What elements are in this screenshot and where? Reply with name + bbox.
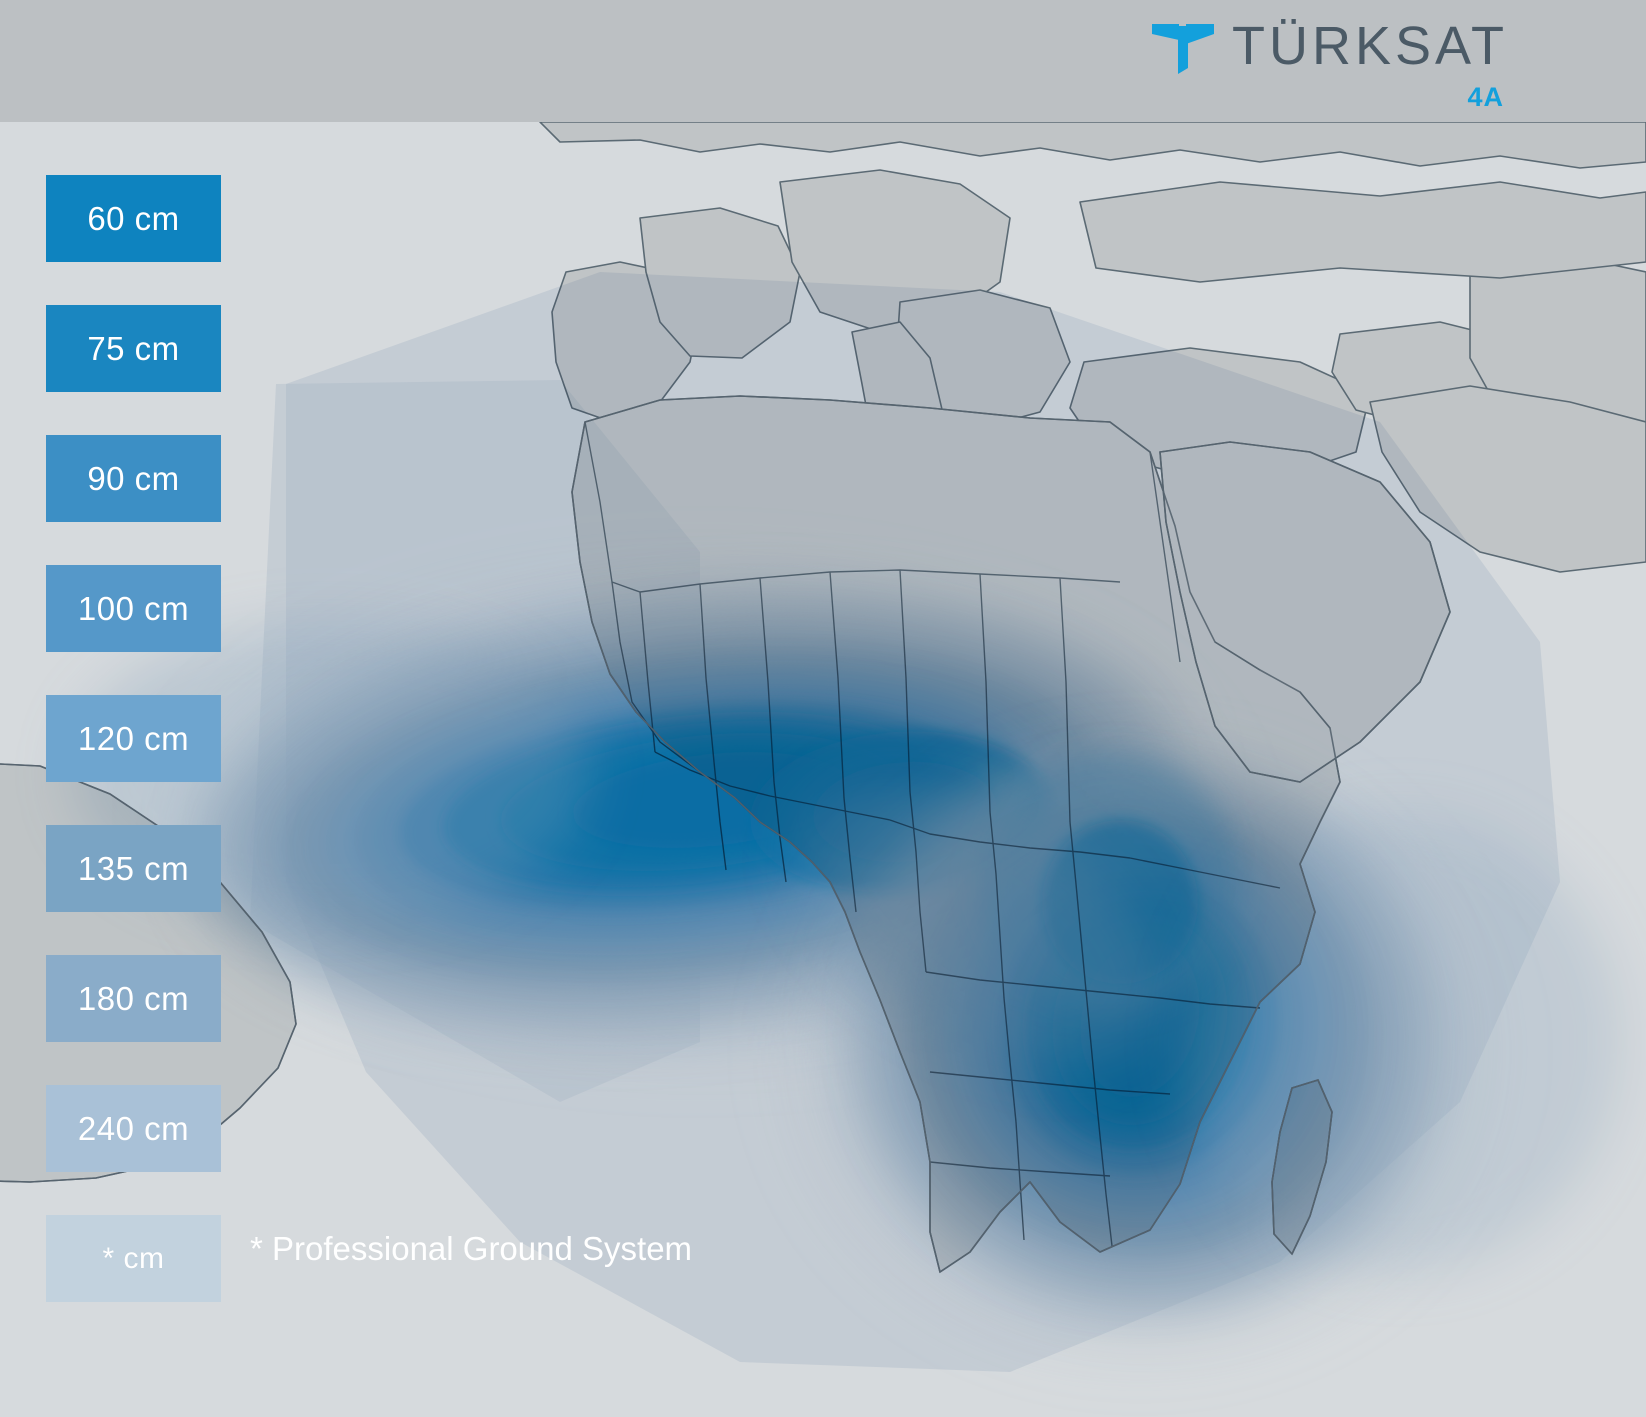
brand-logo-block: TÜRKSAT 4A xyxy=(1152,18,1508,113)
legend-label-240cm: 240 cm xyxy=(78,1110,189,1148)
logo-row: TÜRKSAT xyxy=(1152,18,1508,74)
legend-label-100cm: 100 cm xyxy=(78,590,189,628)
legend-label-120cm: 120 cm xyxy=(78,720,189,758)
beam-indian-ocean-tail xyxy=(1180,812,1620,1272)
black-sea-north-landmass xyxy=(1080,182,1646,282)
legend-item-75cm[interactable]: 75 cm xyxy=(46,305,221,392)
turksat-t-logo-icon xyxy=(1152,18,1214,74)
legend-item-60cm[interactable]: 60 cm xyxy=(46,175,221,262)
legend-item-professional[interactable]: * cm xyxy=(46,1215,221,1302)
legend-item-90cm[interactable]: 90 cm xyxy=(46,435,221,522)
header-bar: TÜRKSAT 4A xyxy=(0,0,1646,122)
legend-label-75cm: 75 cm xyxy=(87,330,179,368)
legend-label-90cm: 90 cm xyxy=(87,460,179,498)
satellite-name: 4A xyxy=(1467,82,1504,113)
brand-name: TÜRKSAT xyxy=(1232,19,1508,73)
legend-item-100cm[interactable]: 100 cm xyxy=(46,565,221,652)
legend-item-240cm[interactable]: 240 cm xyxy=(46,1085,221,1172)
legend-item-180cm[interactable]: 180 cm xyxy=(46,955,221,1042)
legend-label-60cm: 60 cm xyxy=(87,200,179,238)
legend: 60 cm 75 cm 90 cm 100 cm 120 cm 135 cm 1… xyxy=(46,175,221,1345)
legend-label-professional: * cm xyxy=(103,1242,165,1276)
legend-footnote: * Professional Ground System xyxy=(250,1230,692,1268)
legend-item-135cm[interactable]: 135 cm xyxy=(46,825,221,912)
legend-item-120cm[interactable]: 120 cm xyxy=(46,695,221,782)
coverage-map-svg xyxy=(0,122,1646,1417)
coverage-map[interactable] xyxy=(0,122,1646,1417)
legend-label-180cm: 180 cm xyxy=(78,980,189,1018)
legend-label-135cm: 135 cm xyxy=(78,850,189,888)
